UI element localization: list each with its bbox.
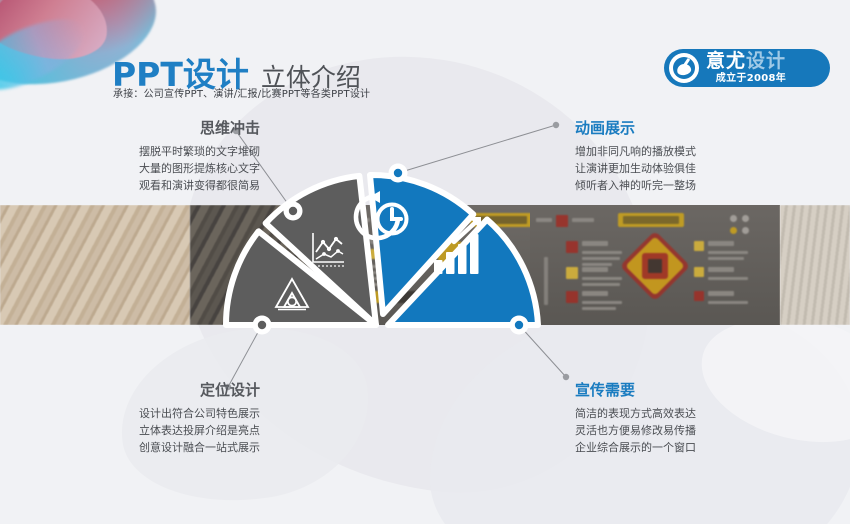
header-description: 承接：公司宣传PPT、演讲/汇报/比赛PPT等各类PPT设计 bbox=[113, 85, 370, 100]
brand-logo[interactable]: 意尤设计 成立于2008年 bbox=[664, 49, 830, 87]
mouse-pen-icon bbox=[669, 53, 699, 83]
callout-line: 立体表达投屏介绍是亮点 bbox=[28, 422, 260, 439]
callout-line: 企业综合展示的一个窗口 bbox=[575, 439, 807, 456]
callout-line: 大量的图形提炼核心文字 bbox=[28, 160, 260, 177]
callout-title: 定位设计 bbox=[28, 382, 260, 399]
band-wall-texture-right bbox=[780, 205, 850, 325]
callout-bottom-right: 宣传需要 简洁的表现方式高效表达 灵活也方便易修改易传播 企业综合展示的一个窗口 bbox=[575, 382, 807, 456]
fan-diagram bbox=[208, 140, 568, 340]
callout-title: 思维冲击 bbox=[28, 120, 260, 137]
callout-line: 创意设计融合一站式展示 bbox=[28, 439, 260, 456]
connector-dot-top-right bbox=[553, 122, 559, 128]
callout-top-left: 思维冲击 摆脱平时繁琐的文字堆砌 大量的图形提炼核心文字 观看和演讲变得都很简易 bbox=[28, 120, 260, 194]
callout-line: 观看和演讲变得都很简易 bbox=[28, 177, 260, 194]
slide-canvas: PPT设计 立体介绍 承接：公司宣传PPT、演讲/汇报/比赛PPT等各类PPT设… bbox=[0, 0, 850, 524]
callout-line: 简洁的表现方式高效表达 bbox=[575, 405, 807, 422]
callout-line: 让演讲更加生动体验俱佳 bbox=[575, 160, 807, 177]
callout-top-right: 动画展示 增加非同凡响的播放模式 让演讲更加生动体验俱佳 倾听者入神的听完一整场 bbox=[575, 120, 807, 194]
callout-title: 宣传需要 bbox=[575, 382, 807, 399]
callout-line: 灵活也方便易修改易传播 bbox=[575, 422, 807, 439]
callout-line: 倾听者入神的听完一整场 bbox=[575, 177, 807, 194]
callout-line: 增加非同凡响的播放模式 bbox=[575, 143, 807, 160]
callout-line: 设计出符合公司特色展示 bbox=[28, 405, 260, 422]
callout-title: 动画展示 bbox=[575, 120, 807, 137]
logo-year: 成立于2008年 bbox=[706, 74, 786, 84]
band-wood-texture-left bbox=[0, 205, 190, 325]
logo-name-strong: 意尤 bbox=[706, 50, 746, 72]
logo-name-light: 设计 bbox=[746, 50, 786, 72]
callout-line: 摆脱平时繁琐的文字堆砌 bbox=[28, 143, 260, 160]
connector-dot-bottom-right bbox=[563, 374, 569, 380]
callout-bottom-left: 定位设计 设计出符合公司特色展示 立体表达投屏介绍是亮点 创意设计融合一站式展示 bbox=[28, 382, 260, 456]
